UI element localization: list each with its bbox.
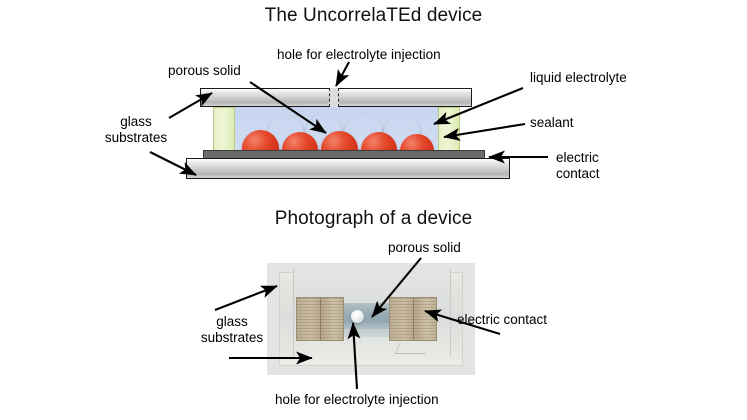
photo-electric-contact-left [296, 297, 344, 341]
fabric-seam [320, 298, 321, 340]
electrolyte-injection-hole [329, 88, 339, 107]
label-photo-electric-contact: electric contact [457, 312, 547, 328]
label-electric-contact: electric contact [556, 150, 600, 181]
photo-injection-hole-droplet [351, 310, 364, 323]
fabric-seam [413, 298, 414, 340]
device-photograph [267, 263, 475, 375]
slide-canvas: The UncorrelaTEd device Photograph of a … [0, 0, 747, 420]
label-porous-solid: porous solid [168, 63, 241, 79]
glass-substrate-bottom [186, 158, 510, 179]
label-liquid-electrolyte: liquid electrolyte [530, 70, 627, 86]
label-photo-hole-for-electrolyte-injection: hole for electrolyte injection [275, 392, 439, 408]
photo-electric-contact-right [389, 297, 437, 341]
label-sealant: sealant [530, 115, 574, 131]
label-hole-for-electrolyte-injection: hole for electrolyte injection [277, 47, 441, 63]
label-photo-porous-solid: porous solid [388, 240, 461, 256]
label-photo-glass-substrates: glass substrates [182, 314, 282, 345]
label-glass-substrates: glass substrates [96, 114, 176, 145]
photo-surface-scratch [394, 343, 430, 354]
